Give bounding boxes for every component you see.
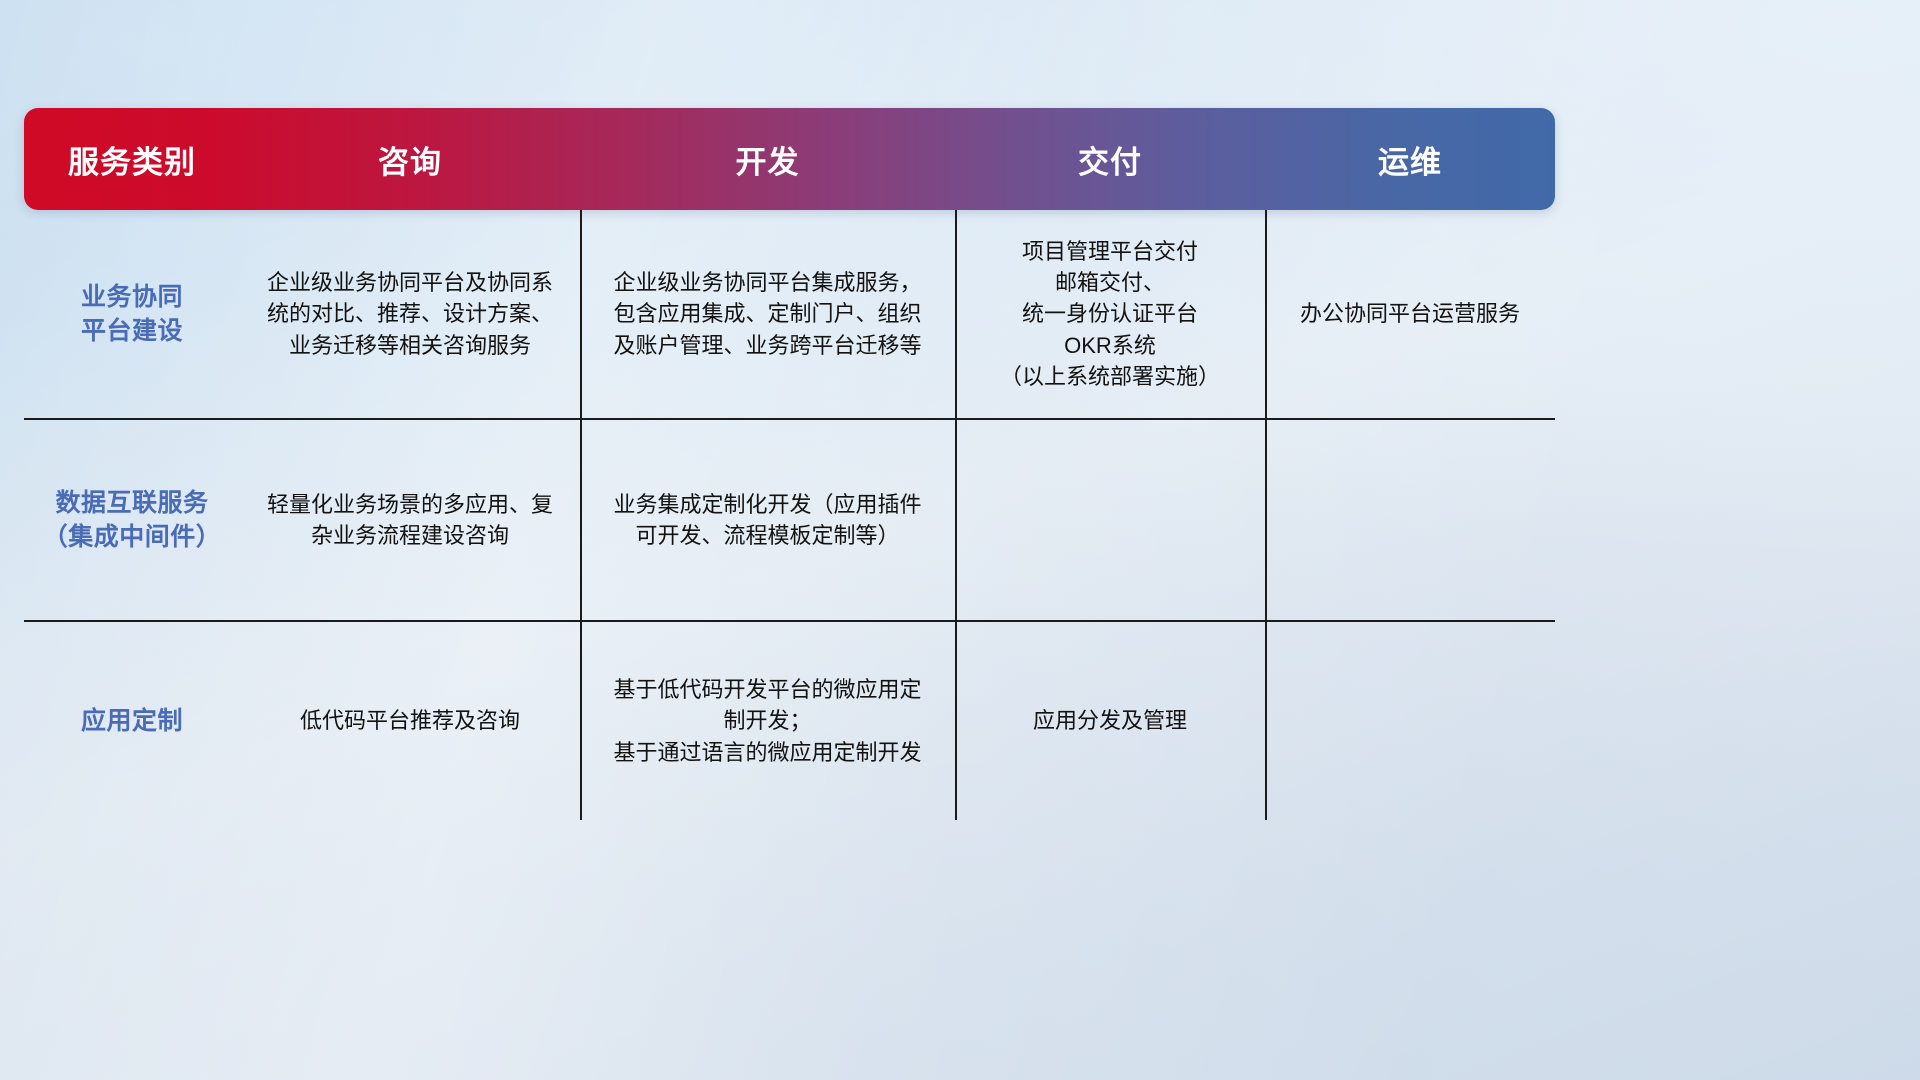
- cell-development: 业务集成定制化开发（应用插件 可开发、流程模板定制等）: [580, 420, 955, 620]
- slide-canvas: 服务类别 咨询 开发 交付 运维 业务协同 平台建设 企业级业务协同平台及协同系…: [0, 0, 1920, 1080]
- column-header-delivery: 交付: [955, 137, 1265, 182]
- service-matrix-table: 服务类别 咨询 开发 交付 运维 业务协同 平台建设 企业级业务协同平台及协同系…: [24, 108, 1555, 776]
- cell-operations: 办公协同平台运营服务: [1265, 210, 1555, 418]
- table-header-row: 服务类别 咨询 开发 交付 运维: [24, 108, 1555, 210]
- cell-development: 基于低代码开发平台的微应用定 制开发； 基于通过语言的微应用定制开发: [580, 622, 955, 820]
- cell-delivery: 项目管理平台交付 邮箱交付、 统一身份认证平台 OKR系统 （以上系统部署实施）: [955, 210, 1265, 418]
- cell-consulting: 轻量化业务场景的多应用、复 杂业务流程建设咨询: [240, 420, 580, 620]
- cell-delivery: 应用分发及管理: [955, 622, 1265, 820]
- cell-development: 企业级业务协同平台集成服务， 包含应用集成、定制门户、组织 及账户管理、业务跨平…: [580, 210, 955, 418]
- row-label-data-interconnect: 数据互联服务 （集成中间件）: [24, 420, 240, 620]
- cell-delivery: [955, 420, 1265, 620]
- cell-operations: [1265, 622, 1555, 820]
- column-header-development: 开发: [580, 137, 955, 182]
- column-header-consulting: 咨询: [240, 137, 580, 182]
- table-row: 应用定制 低代码平台推荐及咨询 基于低代码开发平台的微应用定 制开发； 基于通过…: [24, 620, 1555, 820]
- table-row: 业务协同 平台建设 企业级业务协同平台及协同系 统的对比、推荐、设计方案、 业务…: [24, 210, 1555, 418]
- table-row: 数据互联服务 （集成中间件） 轻量化业务场景的多应用、复 杂业务流程建设咨询 业…: [24, 418, 1555, 620]
- column-divider-consulting-development: [580, 210, 582, 820]
- column-header-operations: 运维: [1265, 137, 1555, 182]
- column-header-service-category: 服务类别: [24, 137, 240, 182]
- column-divider-development-delivery: [955, 210, 957, 820]
- cell-operations: [1265, 420, 1555, 620]
- column-divider-delivery-operations: [1265, 210, 1267, 820]
- cell-consulting: 企业级业务协同平台及协同系 统的对比、推荐、设计方案、 业务迁移等相关咨询服务: [240, 210, 580, 418]
- row-label-business-collaboration: 业务协同 平台建设: [24, 210, 240, 418]
- row-label-app-customization: 应用定制: [24, 622, 240, 820]
- table-body: 业务协同 平台建设 企业级业务协同平台及协同系 统的对比、推荐、设计方案、 业务…: [24, 210, 1555, 820]
- cell-consulting: 低代码平台推荐及咨询: [240, 622, 580, 820]
